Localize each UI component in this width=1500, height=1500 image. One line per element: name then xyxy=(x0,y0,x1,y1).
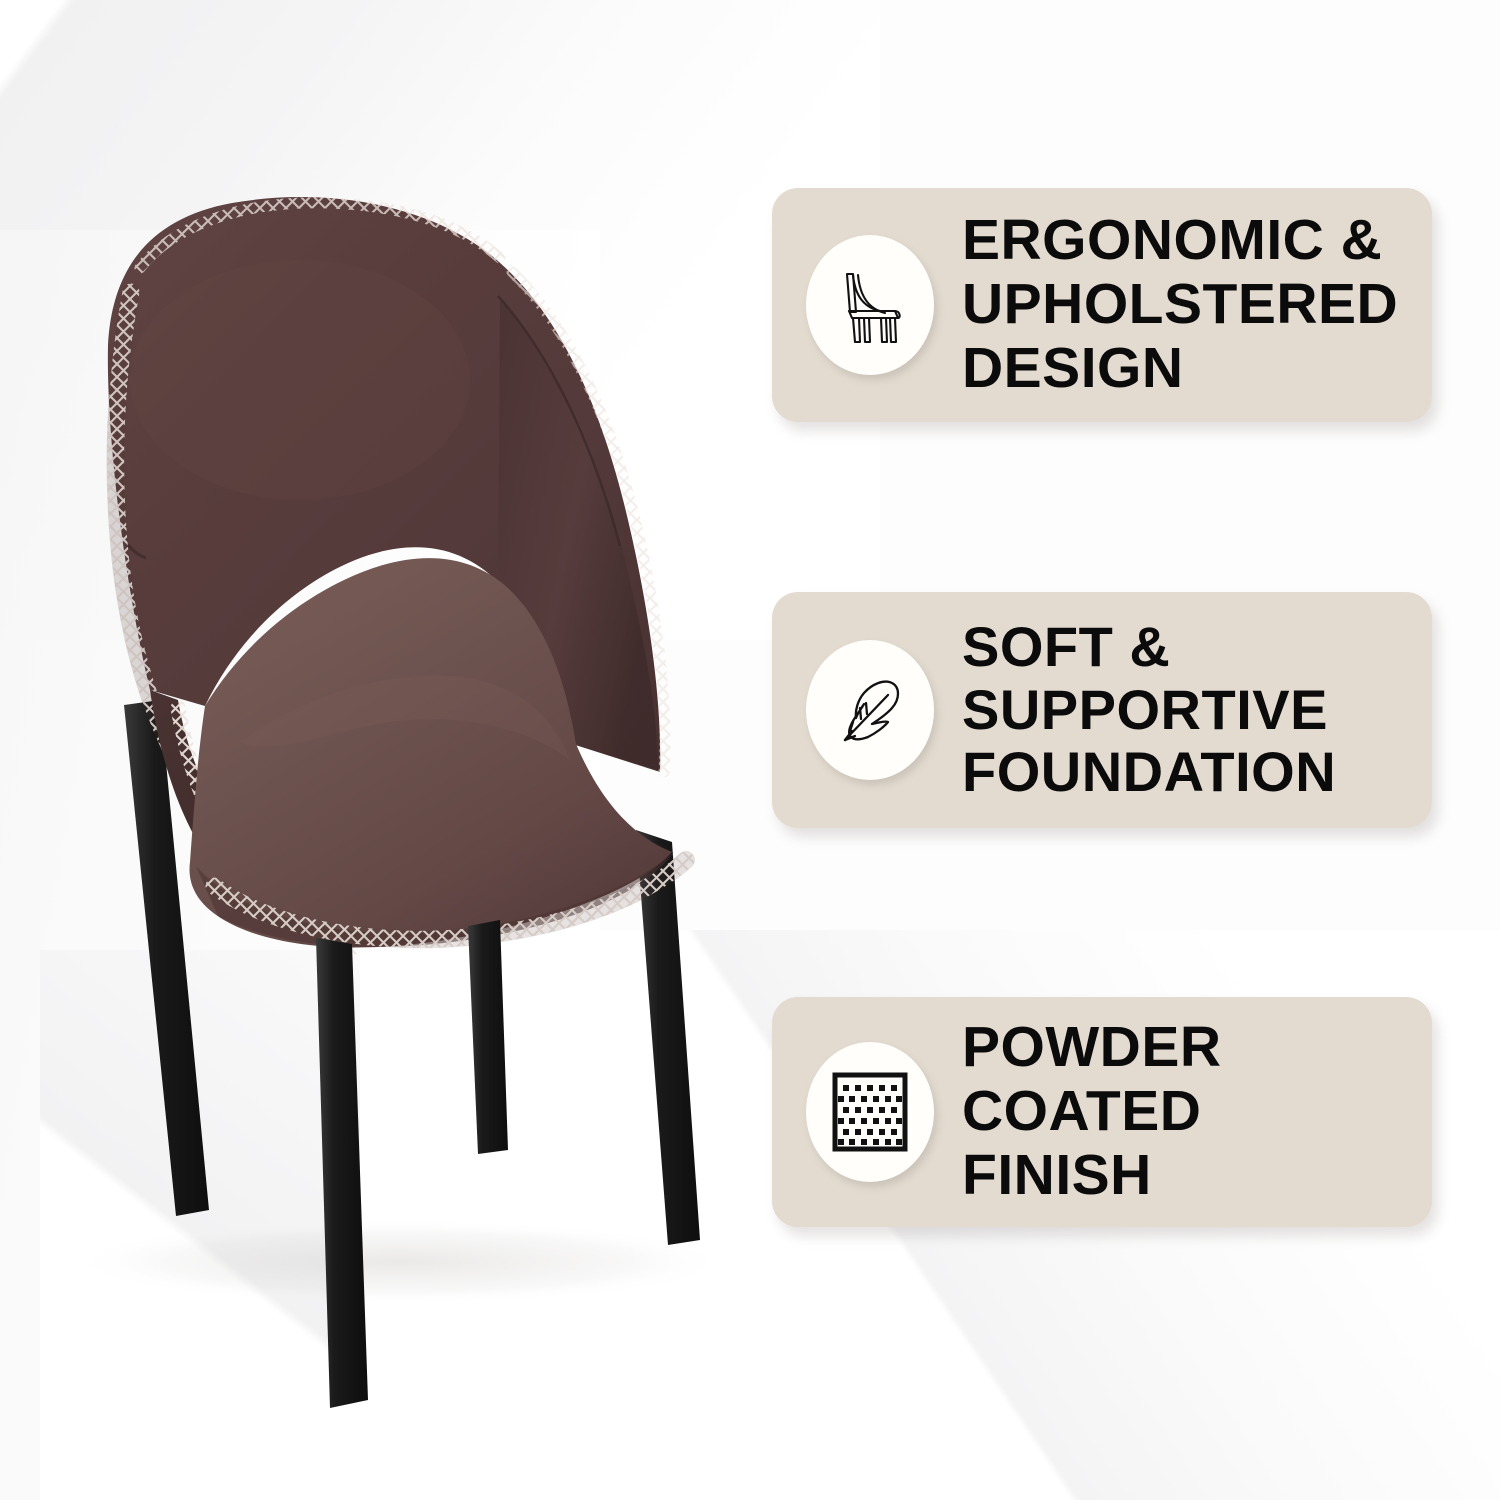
feather-icon xyxy=(830,670,910,750)
feature-card-title-powder-coated: POWDER COATED FINISH xyxy=(962,1016,1222,1207)
powder-coat-texture-icon xyxy=(830,1071,910,1153)
chair-side-view-icon xyxy=(833,265,907,345)
feature-card-title-soft-support: SOFT & SUPPORTIVE FOUNDATION xyxy=(962,616,1336,804)
floor-shadow xyxy=(70,1220,730,1304)
chair-leg-front-left xyxy=(316,938,368,1408)
feature-card-ergonomic[interactable]: ERGONOMIC & UPHOLSTERED DESIGN xyxy=(772,188,1432,422)
feature-card-title-ergonomic: ERGONOMIC & UPHOLSTERED DESIGN xyxy=(962,209,1398,400)
icon-badge-soft-support xyxy=(806,640,934,780)
chair-leg-front-right xyxy=(468,920,508,1154)
infographic-page: ERGONOMIC & UPHOLSTERED DESIGN xyxy=(0,0,1500,1500)
feature-card-soft-support[interactable]: SOFT & SUPPORTIVE FOUNDATION xyxy=(772,592,1432,828)
icon-badge-ergonomic xyxy=(806,235,934,375)
feature-card-powder-coated[interactable]: POWDER COATED FINISH xyxy=(772,997,1432,1227)
product-image xyxy=(0,0,770,1500)
dining-chair-illustration xyxy=(0,0,770,1500)
icon-badge-powder-coated xyxy=(806,1042,934,1182)
feature-card-list: ERGONOMIC & UPHOLSTERED DESIGN xyxy=(772,0,1500,1500)
